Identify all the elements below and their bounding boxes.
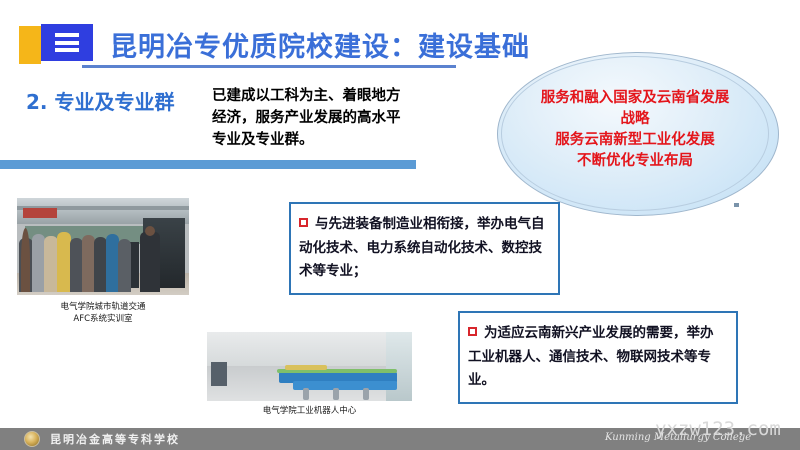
slide-canvas: 昆明冶专优质院校建设：建设基础 2. 专业及专业群 已建成以工科为主、着眼地方经… [0,0,800,450]
callout-1-body: 与先进装备制造业相衔接，举办电气自动化技术、电力系统自动化技术、数控技术等专业； [299,213,548,284]
ellipse-line-2: 战略 [507,109,763,130]
red-square-bullet-icon [299,218,308,227]
students-group [19,230,139,292]
ellipse-line-3: 服务云南新型工业化发展 [507,130,763,151]
afc-lab-photo [17,198,189,295]
callout-box-2: 为适应云南新兴产业发展的需要，举办工业机器人、通信技术、物联网技术等专业。 [458,311,738,404]
section-description: 已建成以工科为主、着眼地方经济，服务产业发展的高水平专业及专业群。 [212,86,402,151]
blue-divider-bar [0,160,416,169]
school-crest-icon [24,431,40,447]
callout-box-1: 与先进装备制造业相衔接，举办电气自动化技术、电力系统自动化技术、数控技术等专业； [289,202,560,295]
ellipse-text: 服务和融入国家及云南省发展 战略 服务云南新型工业化发展 不断优化专业布局 [507,88,763,172]
afc-lab-caption: 电气学院城市轨道交通 AFC系统实训室 [17,301,189,326]
hamburger-icon [55,33,79,52]
title-underline [82,65,456,68]
strategy-ellipse: 服务和融入国家及云南省发展 战略 服务云南新型工业化发展 不断优化专业布局 [497,52,779,216]
callout-2-text: 为适应云南新兴产业发展的需要，举办工业机器人、通信技术、物联网技术等专业。 [468,325,714,388]
page-title: 昆明冶专优质院校建设：建设基础 [110,25,530,64]
ellipse-line-4: 不断优化专业布局 [507,151,763,172]
title-accent-yellow [19,26,41,64]
robot-center-photo [207,332,412,401]
site-watermark: yxzw123.com [655,418,781,440]
callout-2-body: 为适应云南新兴产业发展的需要，举办工业机器人、通信技术、物联网技术等专业。 [468,322,726,393]
footer-school-name-cn: 昆明冶金高等专科学校 [50,431,180,447]
callout-1-text: 与先进装备制造业相衔接，举办电气自动化技术、电力系统自动化技术、数控技术等专业； [299,216,545,279]
red-square-bullet-icon [468,327,477,336]
robot-center-caption: 电气学院工业机器人中心 [207,405,412,417]
ellipse-line-1: 服务和融入国家及云南省发展 [507,88,763,109]
section-number: 2. 专业及专业群 [26,86,174,115]
ellipse-handle-dot [734,203,739,207]
